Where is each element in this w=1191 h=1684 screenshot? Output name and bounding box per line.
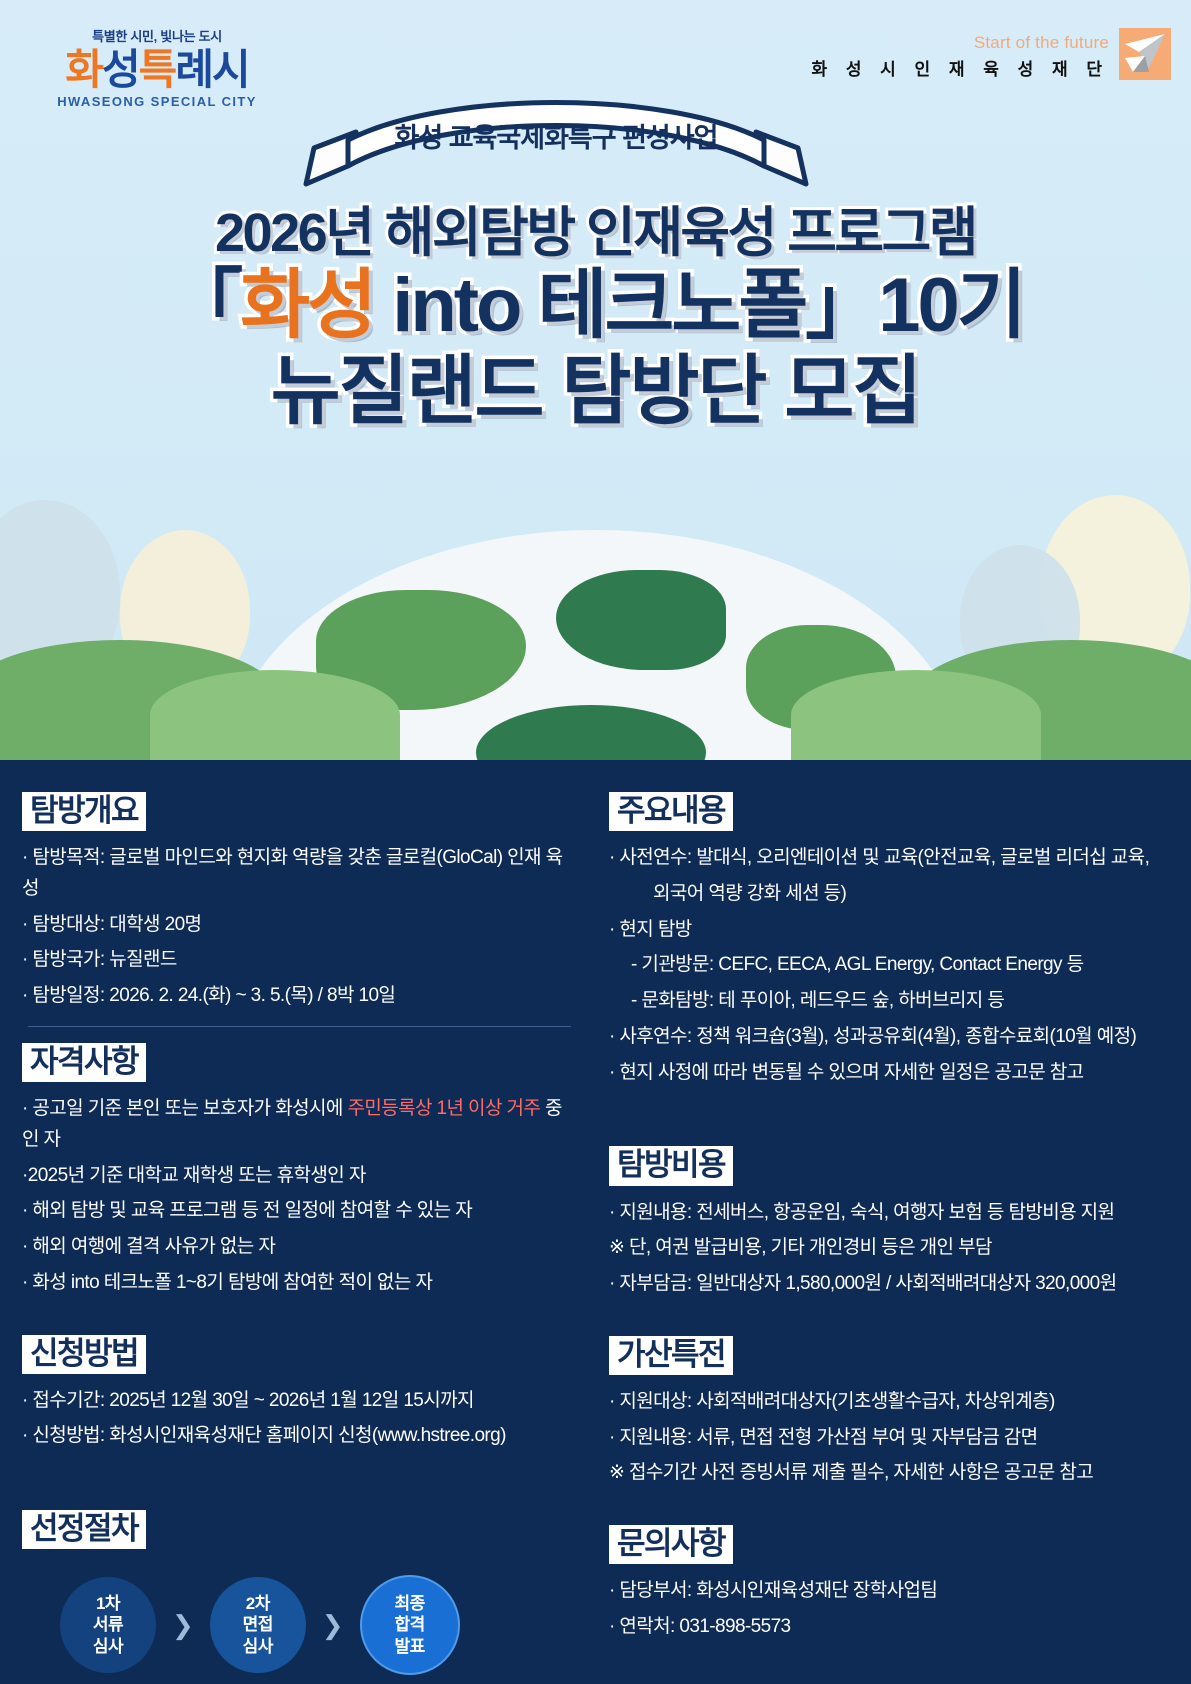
poster-headline: 2026년 해외탐방 인재육성 프로그램 「화성 into 테크노폴」10기 뉴… bbox=[0, 205, 1191, 433]
eligibility-pre: · 공고일 기준 본인 또는 보호자가 화성시에 bbox=[22, 1098, 347, 1119]
step3-line3: 발표 bbox=[394, 1636, 424, 1658]
list-item: · 사후연수: 정책 워크숍(3월), 성과공유회(4월), 종합수료회(10월… bbox=[609, 1022, 1175, 1053]
headline-line-3: 뉴질랜드 탐방단 모집 bbox=[0, 352, 1191, 433]
apply-list: · 접수기간: 2025년 12월 30일 ~ 2026년 1월 12일 15시… bbox=[22, 1386, 577, 1453]
hwaseong-city-logo: 특별한 시민, 빛나는 도시 화성특례시 HWASEONG SPECIAL CI… bbox=[22, 26, 292, 109]
process-step-3: 최종 합격 발표 bbox=[360, 1575, 460, 1675]
section-apply: 신청방법 · 접수기간: 2025년 12월 30일 ~ 2026년 1월 12… bbox=[22, 1335, 577, 1453]
city-logo-english: HWASEONG SPECIAL CITY bbox=[22, 94, 292, 109]
foundation-logo-text: Start of the future 화 성 시 인 재 육 성 재 단 bbox=[811, 33, 1109, 80]
poster-root: 특별한 시민, 빛나는 도시 화성특례시 HWASEONG SPECIAL CI… bbox=[0, 0, 1191, 1684]
step1-line2: 서류 bbox=[93, 1614, 123, 1636]
process-step-2: 2차 면접 심사 bbox=[210, 1577, 306, 1673]
process-step-1: 1차 서류 심사 bbox=[60, 1577, 156, 1673]
list-item: · 담당부서: 화성시인재육성재단 장학사업팀 bbox=[609, 1576, 1175, 1607]
step2-line3: 심사 bbox=[243, 1636, 273, 1658]
selection-process-flow: 1차 서류 심사 ❯ 2차 면접 심사 ❯ 최종 합격 발표 bbox=[22, 1575, 577, 1675]
list-item: · 지원내용: 전세버스, 항공운임, 숙식, 여행자 보험 등 탐방비용 지원 bbox=[609, 1198, 1175, 1229]
section-main-content: 주요내용 · 사전연수: 발대식, 오리엔테이션 및 교육(안전교육, 글로벌 … bbox=[609, 792, 1175, 1088]
ribbon-label: 화성 교육국제화특구 편성사업 bbox=[296, 116, 816, 155]
headline-line-2: 「화성 into 테크노폴」10기 bbox=[0, 266, 1191, 347]
cost-note: ※ 단, 여권 발급비용, 기타 개인경비 등은 개인 부담 bbox=[609, 1233, 1175, 1264]
list-item: · 탐방국가: 뉴질랜드 bbox=[22, 945, 577, 976]
cost-title: 탐방비용 bbox=[609, 1146, 733, 1185]
hero-illustration bbox=[0, 460, 1191, 760]
hill-decor bbox=[791, 670, 1041, 760]
left-column: 탐방개요 · 탐방목적: 글로벌 마인드와 현지화 역량을 갖춘 글로컬(Glo… bbox=[0, 760, 595, 1684]
spacer bbox=[609, 1100, 1175, 1146]
main-content-list: · 사전연수: 발대식, 오리엔테이션 및 교육(안전교육, 글로벌 리더십 교… bbox=[609, 843, 1175, 1088]
list-item: · 현지 탐방 bbox=[609, 915, 1175, 946]
list-item: · 탐방일정: 2026. 2. 24.(화) ~ 3. 5.(목) / 8박 … bbox=[22, 981, 577, 1012]
chevron-right-icon: ❯ bbox=[312, 1610, 354, 1641]
list-item: · 해외 여행에 결격 사유가 없는 자 bbox=[22, 1232, 577, 1263]
headline-line2-rest: into 테크노폴」10기 bbox=[374, 263, 1024, 348]
step3-line1: 최종 bbox=[394, 1593, 424, 1615]
headline-hwaseong: 화성 bbox=[240, 263, 374, 348]
bonus-list: · 지원대상: 사회적배려대상자(기초생활수급자, 차상위계층) · 지원내용:… bbox=[609, 1387, 1175, 1489]
list-item: · 접수기간: 2025년 12월 30일 ~ 2026년 1월 12일 15시… bbox=[22, 1386, 577, 1417]
list-item: · 사전연수: 발대식, 오리엔테이션 및 교육(안전교육, 글로벌 리더십 교… bbox=[609, 843, 1175, 874]
foundation-name: 화 성 시 인 재 육 성 재 단 bbox=[811, 55, 1109, 80]
city-logo-mark: 화성특례시 bbox=[22, 48, 292, 92]
step2-line2: 면접 bbox=[243, 1614, 273, 1636]
foundation-tagline: Start of the future bbox=[811, 33, 1109, 53]
apply-title: 신청방법 bbox=[22, 1335, 146, 1374]
list-item: · 해외 탐방 및 교육 프로그램 등 전 일정에 참여할 수 있는 자 bbox=[22, 1196, 577, 1227]
bonus-note: ※ 접수기간 사전 증빙서류 제출 필수, 자세한 사항은 공고문 참고 bbox=[609, 1458, 1175, 1489]
section-eligibility: 자격사항 · 공고일 기준 본인 또는 보호자가 화성시에 주민등록상 1년 이… bbox=[22, 1043, 577, 1299]
list-item: · 탐방목적: 글로벌 마인드와 현지화 역량을 갖춘 글로컬(GloCal) … bbox=[22, 843, 577, 905]
list-item: · 지원내용: 서류, 면접 전형 가산점 부여 및 자부담금 감면 bbox=[609, 1423, 1175, 1454]
poster-hero: 특별한 시민, 빛나는 도시 화성특례시 HWASEONG SPECIAL CI… bbox=[0, 0, 1191, 760]
list-item: ·2025년 기준 대학교 재학생 또는 휴학생인 자 bbox=[22, 1161, 577, 1192]
ribbon-banner: 화성 교육국제화특구 편성사업 bbox=[296, 92, 816, 196]
section-contact: 문의사항 · 담당부서: 화성시인재육성재단 장학사업팀 · 연락처: 031-… bbox=[609, 1525, 1175, 1643]
main-content-title: 주요내용 bbox=[609, 792, 733, 831]
headline-line-1: 2026년 해외탐방 인재육성 프로그램 bbox=[0, 205, 1191, 262]
main-content-note: · 현지 사정에 따라 변동될 수 있으며 자세한 일정은 공고문 참고 bbox=[609, 1058, 1175, 1089]
spacer bbox=[609, 1312, 1175, 1336]
process-title: 선정절차 bbox=[22, 1510, 146, 1549]
city-slogan: 특별한 시민, 빛나는 도시 bbox=[22, 26, 292, 45]
list-item[interactable]: · 신청방법: 화성시인재육성재단 홈페이지 신청(www.hstree.org… bbox=[22, 1421, 577, 1452]
eligibility-highlight: 주민등록상 1년 이상 거주 bbox=[347, 1098, 540, 1119]
step1-line3: 심사 bbox=[93, 1636, 123, 1658]
spacer bbox=[609, 1501, 1175, 1525]
list-item: 외국어 역량 강화 세션 등) bbox=[609, 879, 1175, 910]
list-item: · 화성 into 테크노폴 1~8기 탐방에 참여한 적이 없는 자 bbox=[22, 1268, 577, 1299]
step2-line1: 2차 bbox=[246, 1593, 270, 1615]
list-item: · 공고일 기준 본인 또는 보호자가 화성시에 주민등록상 1년 이상 거주 … bbox=[22, 1094, 577, 1156]
headline-bracket-open: 「 bbox=[167, 263, 240, 348]
step3-line2: 합격 bbox=[394, 1614, 424, 1636]
section-process: 선정절차 1차 서류 심사 ❯ 2차 면접 심사 ❯ 최종 bbox=[22, 1510, 577, 1675]
list-item: - 문화탐방: 테 푸이아, 레드우드 숲, 하버브리지 등 bbox=[609, 986, 1175, 1017]
overview-list: · 탐방목적: 글로벌 마인드와 현지화 역량을 갖춘 글로컬(GloCal) … bbox=[22, 843, 577, 1012]
bonus-title: 가산특전 bbox=[609, 1336, 733, 1375]
spacer bbox=[22, 1464, 577, 1510]
section-cost: 탐방비용 · 지원내용: 전세버스, 항공운임, 숙식, 여행자 보험 등 탐방… bbox=[609, 1146, 1175, 1299]
section-bonus: 가산특전 · 지원대상: 사회적배려대상자(기초생활수급자, 차상위계층) · … bbox=[609, 1336, 1175, 1489]
poster-details: 탐방개요 · 탐방목적: 글로벌 마인드와 현지화 역량을 갖춘 글로컬(Glo… bbox=[0, 760, 1191, 1684]
foundation-logo: Start of the future 화 성 시 인 재 육 성 재 단 bbox=[811, 28, 1171, 80]
list-item[interactable]: · 연락처: 031-898-5573 bbox=[609, 1612, 1175, 1643]
section-divider bbox=[28, 1026, 571, 1027]
list-item: - 기관방문: CEFC, EECA, AGL Energy, Contact … bbox=[609, 950, 1175, 981]
contact-title: 문의사항 bbox=[609, 1525, 733, 1564]
list-item: · 자부담금: 일반대상자 1,580,000원 / 사회적배려대상자 320,… bbox=[609, 1269, 1175, 1300]
list-item: · 탐방대상: 대학생 20명 bbox=[22, 910, 577, 941]
section-overview: 탐방개요 · 탐방목적: 글로벌 마인드와 현지화 역량을 갖춘 글로컬(Glo… bbox=[22, 792, 577, 1012]
spacer bbox=[22, 1311, 577, 1335]
step1-line1: 1차 bbox=[96, 1593, 120, 1615]
eligibility-list: · 공고일 기준 본인 또는 보호자가 화성시에 주민등록상 1년 이상 거주 … bbox=[22, 1094, 577, 1299]
contact-list: · 담당부서: 화성시인재육성재단 장학사업팀 · 연락처: 031-898-5… bbox=[609, 1576, 1175, 1643]
cost-list: · 지원내용: 전세버스, 항공운임, 숙식, 여행자 보험 등 탐방비용 지원… bbox=[609, 1198, 1175, 1300]
chevron-right-icon: ❯ bbox=[162, 1610, 204, 1641]
overview-title: 탐방개요 bbox=[22, 792, 146, 831]
right-column: 주요내용 · 사전연수: 발대식, 오리엔테이션 및 교육(안전교육, 글로벌 … bbox=[595, 760, 1191, 1684]
list-item: · 지원대상: 사회적배려대상자(기초생활수급자, 차상위계층) bbox=[609, 1387, 1175, 1418]
hill-decor bbox=[150, 670, 400, 760]
eligibility-title: 자격사항 bbox=[22, 1043, 146, 1082]
paper-plane-icon bbox=[1119, 28, 1171, 80]
